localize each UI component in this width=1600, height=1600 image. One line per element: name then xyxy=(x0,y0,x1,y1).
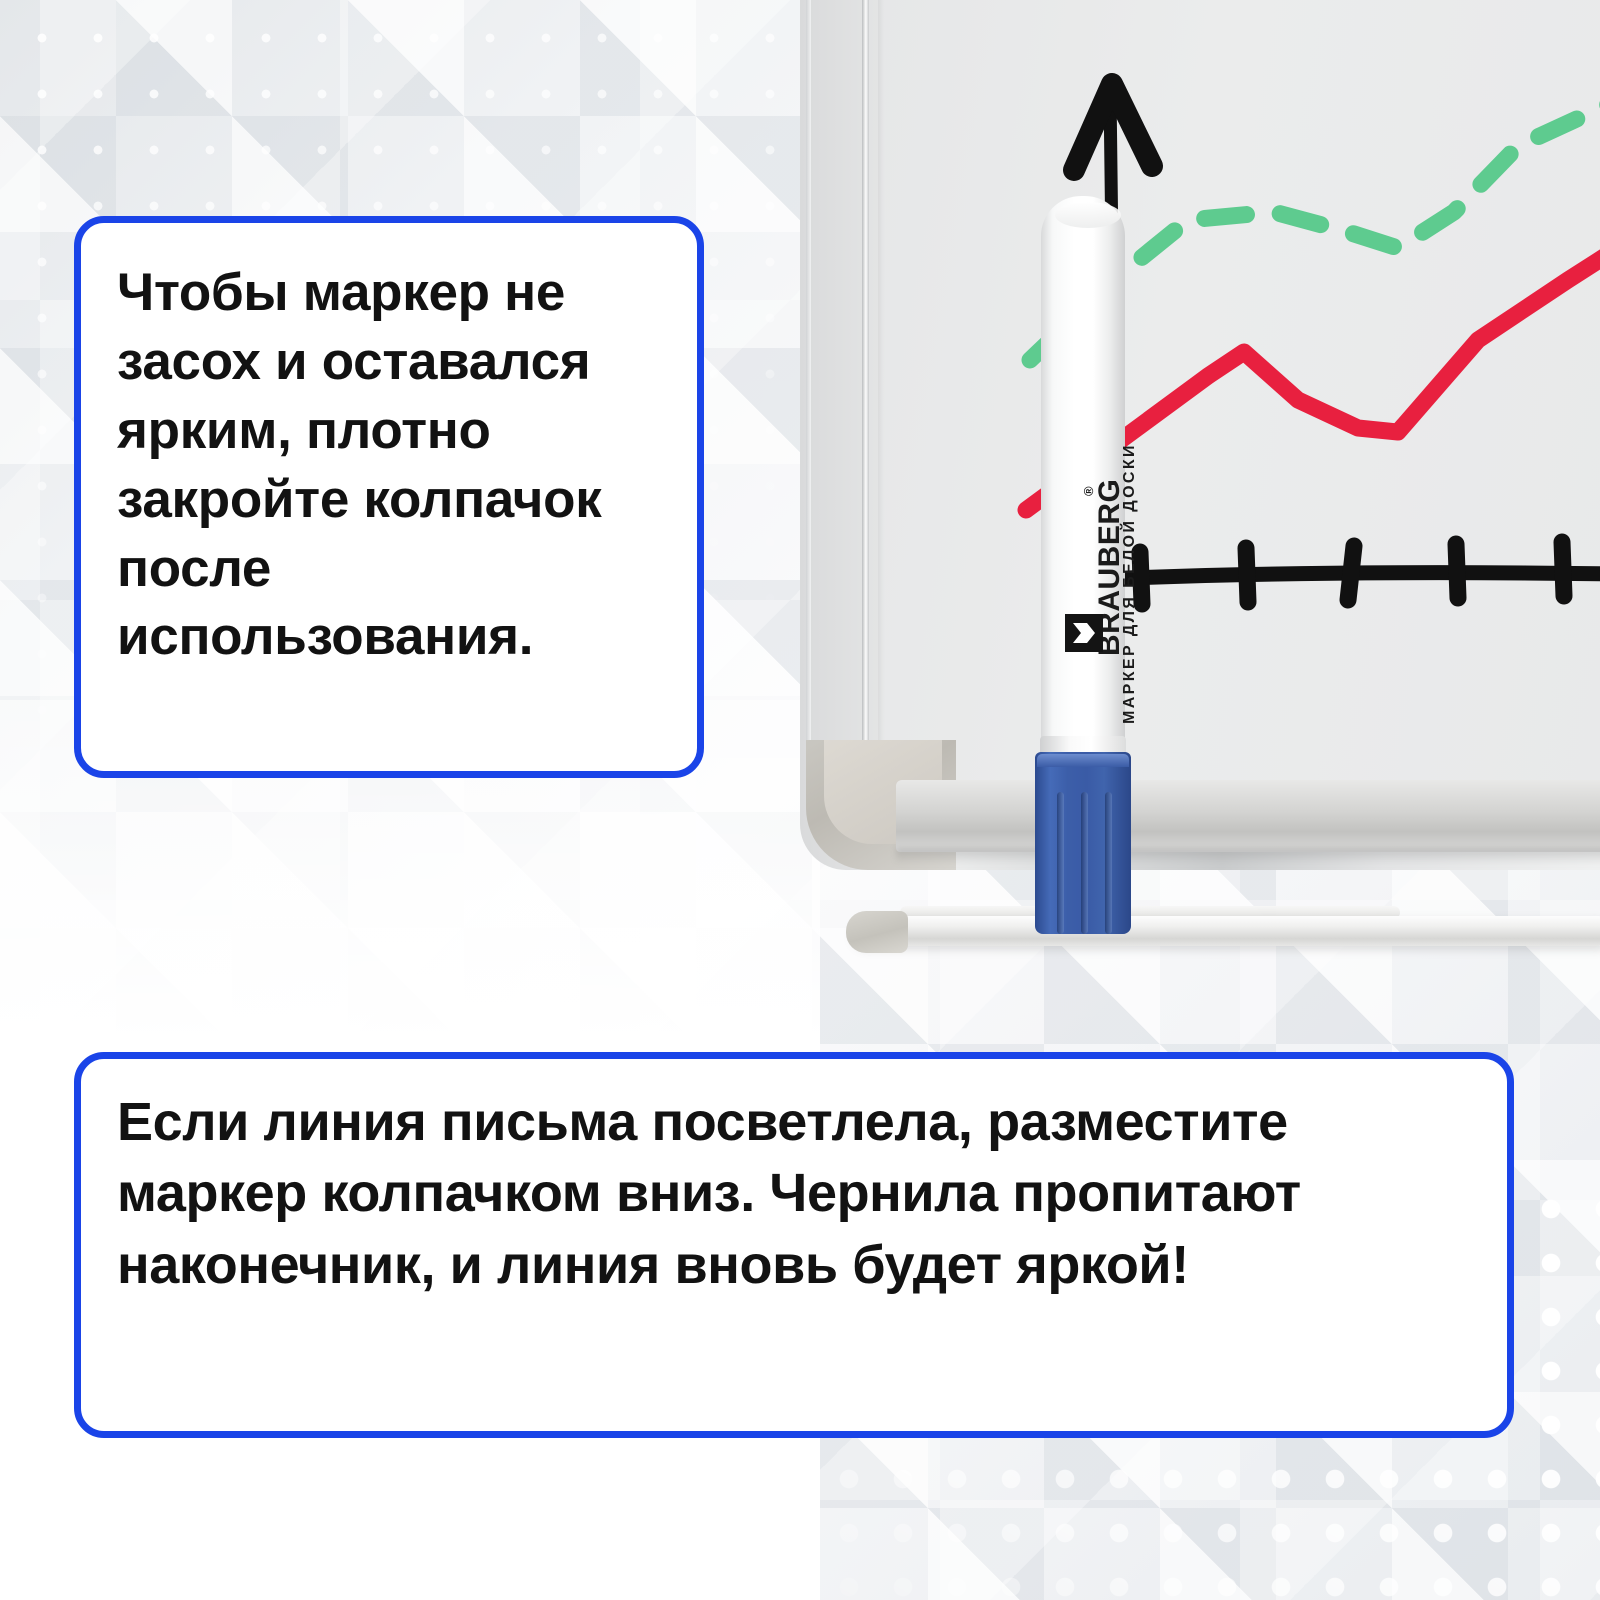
marker-cap-groove-2 xyxy=(1081,792,1088,934)
whiteboard-bottom-shadow xyxy=(896,848,1600,864)
marker-tray-end-cap xyxy=(846,911,908,953)
marker-cap xyxy=(1035,752,1131,934)
frame-edge-outer-highlight xyxy=(806,0,811,810)
brauberg-marker: BRAUBERG ® МАРКЕР ДЛЯ БЕЛОЙ ДОСКИ xyxy=(1035,196,1131,936)
marker-cap-groove-3 xyxy=(1105,792,1112,934)
marker-cap-top-highlight xyxy=(1037,754,1129,767)
infographic-canvas: BRAUBERG ® МАРКЕР ДЛЯ БЕЛОЙ ДОСКИ Чтобы … xyxy=(0,0,1600,1600)
marker-printing: BRAUBERG ® МАРКЕР ДЛЯ БЕЛОЙ ДОСКИ xyxy=(1041,196,1125,756)
marker-cap-groove-1 xyxy=(1057,792,1064,934)
tip-card-revive-marker-text: Если линия письма посветлела, разместите… xyxy=(117,1087,1483,1301)
whiteboard-chart-drawing xyxy=(878,0,1600,680)
whiteboard-photo xyxy=(800,0,1600,1000)
tip-card-close-cap: Чтобы маркер не засох и оставался ярким,… xyxy=(74,216,704,778)
brauberg-logo-icon xyxy=(1065,614,1103,652)
marker-tray xyxy=(852,916,1600,946)
marker-registered-mark: ® xyxy=(1081,486,1096,496)
frame-edge-inner-highlight xyxy=(862,0,869,820)
tip-card-close-cap-text: Чтобы маркер не засох и оставался ярким,… xyxy=(117,259,675,672)
marker-description-label: МАРКЕР ДЛЯ БЕЛОЙ ДОСКИ xyxy=(1121,443,1139,724)
whiteboard-bottom-frame xyxy=(896,780,1600,852)
tip-card-revive-marker: Если линия письма посветлела, разместите… xyxy=(74,1052,1514,1438)
chart-x-axis xyxy=(1128,542,1600,604)
marker-body: BRAUBERG ® МАРКЕР ДЛЯ БЕЛОЙ ДОСКИ xyxy=(1041,196,1125,756)
